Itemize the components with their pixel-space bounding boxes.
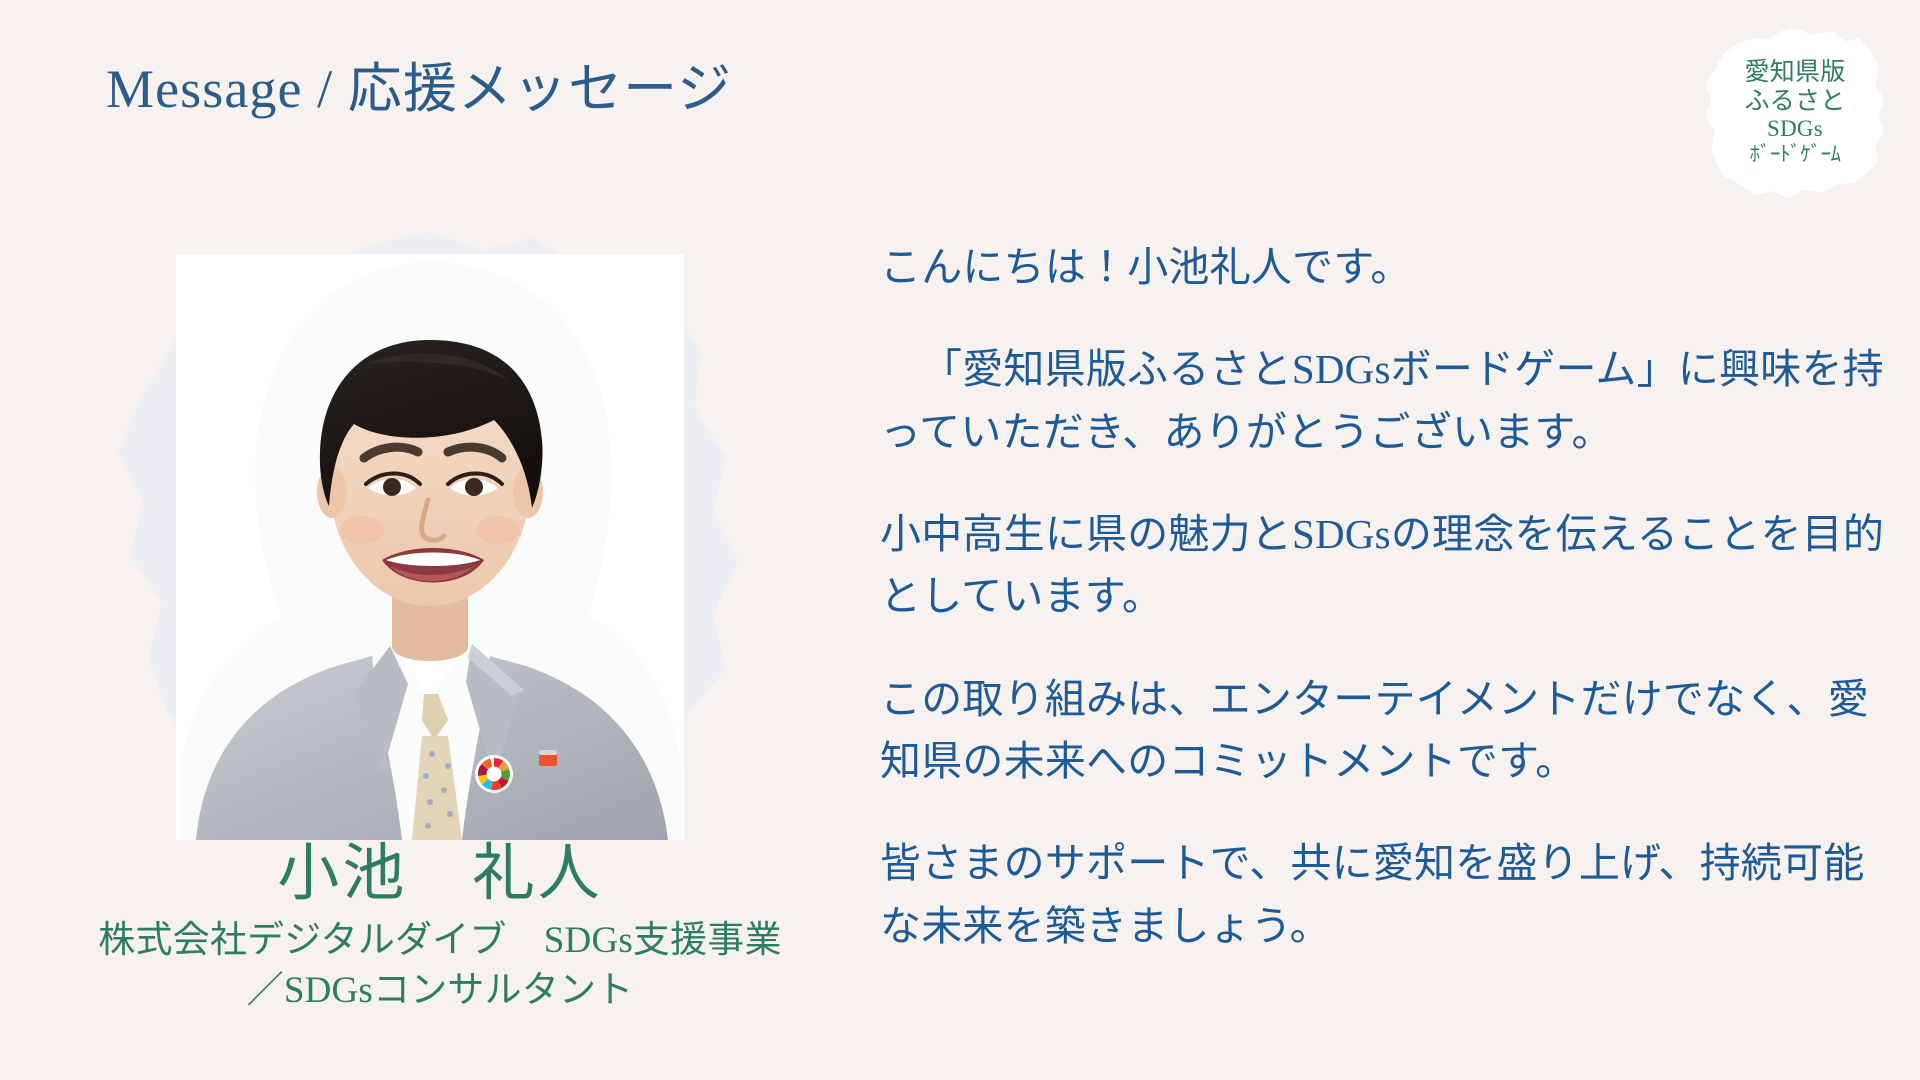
logo-line-2: ふるさと [1744,87,1845,116]
logo-line-4: ﾎﾞｰﾄﾞｹﾞｰﾑ [1750,143,1841,167]
profile-company: 株式会社デジタルダイブ SDGs支援事業 ／SDGsコンサルタント [0,916,880,1016]
message-paragraph-3: 小中高生に県の魅力とSDGsの理念を伝えることを目的としています。 [880,503,1890,628]
message-paragraph-1: こんにちは！小池礼人です。 [880,236,1890,298]
logo-text-group: 愛知県版 ふるさと SDGs ﾎﾞｰﾄﾞｹﾞｰﾑ [1706,28,1884,198]
profile-name: 小池 礼人 [0,840,880,908]
message-paragraph-5: 皆さまのサポートで、共に愛知を盛り上げ、持続可能な未来を築きましょう。 [880,832,1890,957]
portrait-container [118,232,738,840]
slide-root: Message / 応援メッセージ 愛知県版 ふるさと SDGs ﾎﾞｰﾄﾞｹﾞ… [0,0,1920,1080]
logo-line-3: SDGs [1767,116,1823,143]
message-paragraph-4: この取り組みは、エンターテイメントだけでなく、愛知県の未来へのコミットメントです… [880,668,1890,793]
profile-photo [176,254,684,840]
profile-company-line-1: 株式会社デジタルダイブ SDGs支援事業 [0,916,880,966]
page-title: Message / 応援メッセージ [106,58,732,120]
brand-logo: 愛知県版 ふるさと SDGs ﾎﾞｰﾄﾞｹﾞｰﾑ [1706,28,1884,198]
logo-line-1: 愛知県版 [1744,58,1845,87]
message-body: こんにちは！小池礼人です。 「愛知県版ふるさとSDGsボードゲーム」に興味を持っ… [880,236,1890,957]
message-paragraph-2: 「愛知県版ふるさとSDGsボードゲーム」に興味を持っていただき、ありがとうござい… [880,338,1890,463]
profile-company-line-2: ／SDGsコンサルタント [0,966,880,1016]
